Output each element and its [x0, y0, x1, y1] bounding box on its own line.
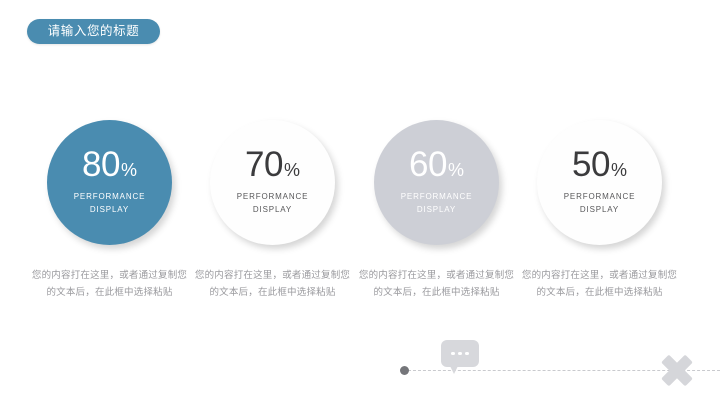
metric-value-3: 60	[409, 147, 447, 182]
cross-mark-icon	[659, 352, 695, 388]
slide-canvas: 请输入您的标题 80 % PERFORMANCE DISPLAY 70 %	[0, 0, 720, 405]
metric-label-2: PERFORMANCE DISPLAY	[237, 191, 309, 216]
metric-value-1: 80	[82, 147, 120, 182]
metric-label-line2-3: DISPLAY	[401, 204, 473, 216]
page-title: 请输入您的标题	[48, 25, 140, 38]
metric-label-line1-2: PERFORMANCE	[237, 191, 309, 203]
metric-label-line1-1: PERFORMANCE	[74, 191, 146, 203]
metric-label-line1-3: PERFORMANCE	[401, 191, 473, 203]
bullet-dot-icon	[400, 366, 409, 375]
metric-label-line2-2: DISPLAY	[237, 204, 309, 216]
metric-value-group-1: 80 %	[82, 147, 137, 182]
metric-percent-sign-1: %	[121, 161, 137, 179]
metric-label-4: PERFORMANCE DISPLAY	[564, 191, 636, 216]
metric-value-group-2: 70 %	[245, 147, 300, 182]
metric-circle-2[interactable]: 70 % PERFORMANCE DISPLAY	[210, 120, 335, 245]
metric-body-text-3[interactable]: 您的内容打在这里，或者通过复制您的文本后，在此框中选择粘贴	[355, 268, 518, 301]
metric-circle-1[interactable]: 80 % PERFORMANCE DISPLAY	[47, 120, 172, 245]
metric-body-text-1[interactable]: 您的内容打在这里，或者通过复制您的文本后，在此框中选择粘贴	[28, 268, 191, 301]
metric-percent-sign-4: %	[611, 161, 627, 179]
metric-item-4: 50 % PERFORMANCE DISPLAY	[518, 120, 681, 260]
metric-percent-sign-3: %	[448, 161, 464, 179]
metric-item-1: 80 % PERFORMANCE DISPLAY	[28, 120, 191, 260]
bubble-dot-3	[465, 352, 469, 356]
metrics-row: 80 % PERFORMANCE DISPLAY 70 % PERFORMANC…	[0, 120, 720, 260]
bubble-dot-2	[458, 352, 462, 356]
metric-circle-3[interactable]: 60 % PERFORMANCE DISPLAY	[374, 120, 499, 245]
metric-value-4: 50	[572, 147, 610, 182]
page-title-pill[interactable]: 请输入您的标题	[27, 19, 160, 44]
metric-label-line2-1: DISPLAY	[74, 204, 146, 216]
metric-body-text-2[interactable]: 您的内容打在这里，或者通过复制您的文本后，在此框中选择粘贴	[191, 268, 354, 301]
metric-label-line2-4: DISPLAY	[564, 204, 636, 216]
metric-percent-sign-2: %	[284, 161, 300, 179]
metric-value-group-4: 50 %	[572, 147, 627, 182]
metric-label-3: PERFORMANCE DISPLAY	[401, 191, 473, 216]
metric-label-1: PERFORMANCE DISPLAY	[74, 191, 146, 216]
metric-label-line1-4: PERFORMANCE	[564, 191, 636, 203]
metric-body-text-4[interactable]: 您的内容打在这里，或者通过复制您的文本后，在此框中选择粘贴	[518, 268, 681, 301]
bubble-dot-1	[451, 352, 455, 356]
metric-circle-4[interactable]: 50 % PERFORMANCE DISPLAY	[537, 120, 662, 245]
metric-value-2: 70	[245, 147, 283, 182]
metric-value-group-3: 60 %	[409, 147, 464, 182]
speech-bubble-ellipsis-icon	[441, 340, 479, 367]
footer-decoration	[0, 330, 720, 405]
metric-item-2: 70 % PERFORMANCE DISPLAY	[191, 120, 354, 260]
metric-item-3: 60 % PERFORMANCE DISPLAY	[355, 120, 518, 260]
